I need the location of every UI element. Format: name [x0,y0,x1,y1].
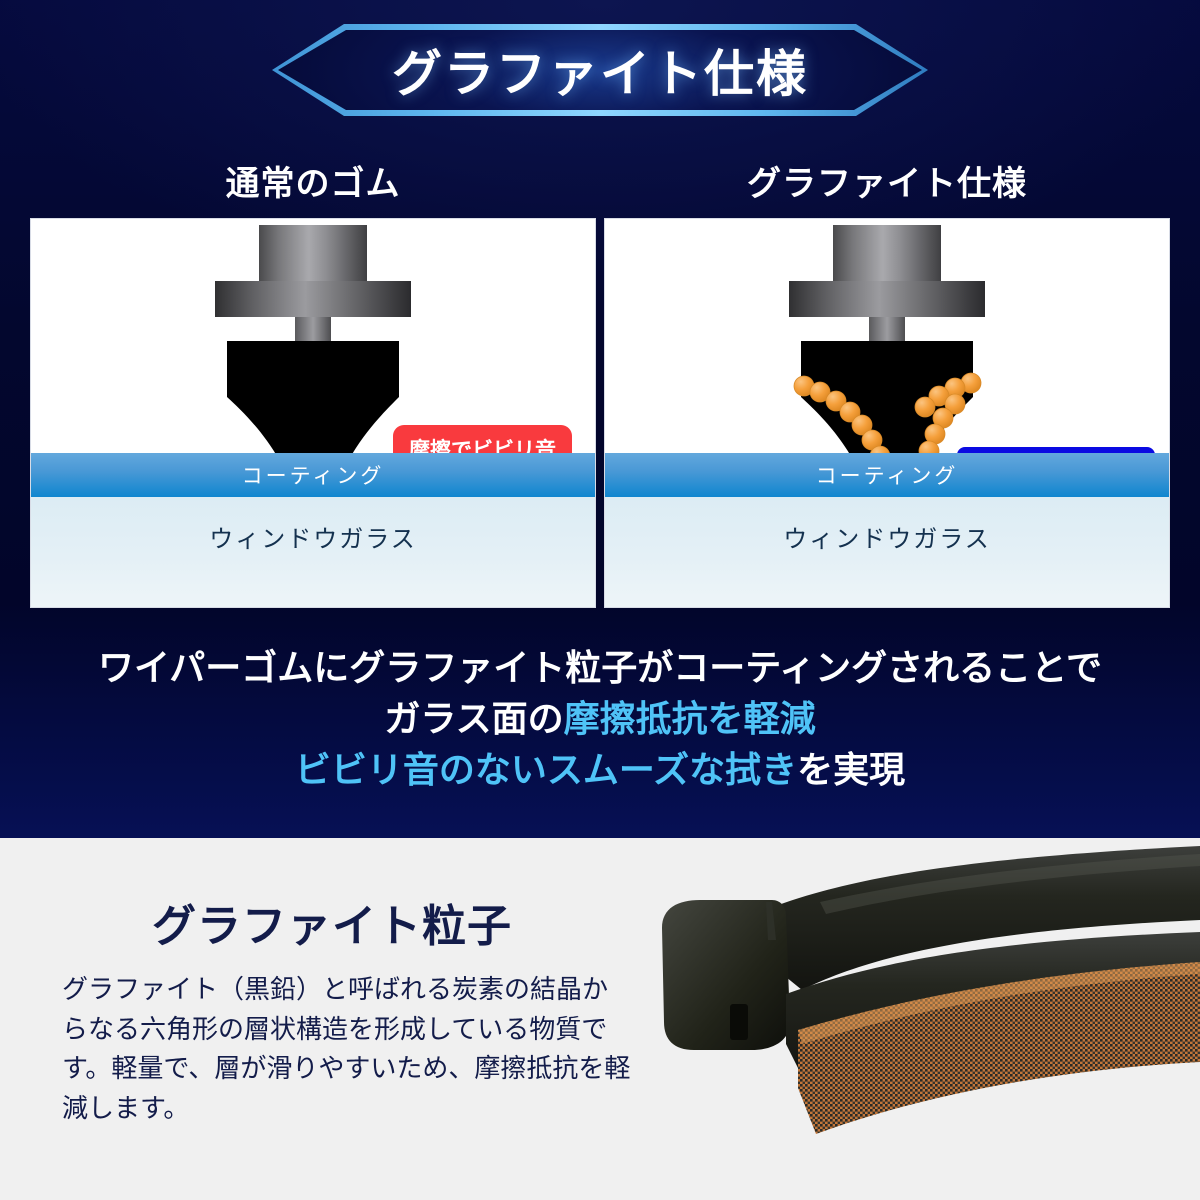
header-banner: グラファイト仕様 [272,24,928,116]
coating-layer-normal: コーティング [31,453,595,497]
coating-layer-graphite: コーティング [605,453,1169,497]
bottom-title: グラファイト粒子 [152,890,632,954]
diagram-normal-rubber: 摩擦抵抗が大きい 摩擦でビビリ音 コーティング ウィンドウガラス [30,218,596,608]
glass-label-normal: ウィンドウガラス [209,519,417,554]
glass-layer-normal: ウィンドウガラス [31,497,595,607]
wiper-metal-neck [295,317,331,341]
coating-label-graphite: コーティング [816,460,959,490]
bottom-section: グラファイト粒子 グラファイト（黒鉛）と呼ばれる炭素の結晶からなる六角形の層状構… [0,838,1200,1200]
lead-description: ワイパーゴムにグラファイト粒子がコーティングされることで ガラス面の摩擦抵抗を軽… [0,642,1200,795]
comparison-panels: 通常のゴム [0,150,1200,620]
diagram-graphite: スムーズな動き 摩擦抵抗が少ない グラファイト粒子 コーティング ウィンドウガラ… [604,218,1170,608]
wiper-metal-top [259,225,367,281]
glass-label-graphite: ウィンドウガラス [783,519,991,554]
lead-line-3-plain: を実現 [797,749,905,790]
top-section: グラファイト仕様 通常のゴム [0,0,1200,838]
wiper-assembly-normal [208,225,418,385]
graphite-explainer: グラファイト粒子 グラファイト（黒鉛）と呼ばれる炭素の結晶からなる六角形の層状構… [62,890,632,1128]
infographic-page: グラファイト仕様 通常のゴム [0,0,1200,1200]
lead-line-3: ビビリ音のないスムーズな拭きを実現 [0,744,1200,795]
wiper-metal-flange [215,281,411,317]
lead-line-3-highlight-a: ビビリ音のない [295,749,547,790]
lead-line-2-plain: ガラス面の [384,698,563,739]
wiper-blade-photo [620,844,1200,1144]
panel-normal-rubber: 通常のゴム [26,150,600,608]
page-title: グラファイト仕様 [392,34,808,106]
panel-graphite: グラファイト仕様 [600,150,1174,608]
lead-line-2: ガラス面の摩擦抵抗を軽減 [0,693,1200,744]
panel-title-graphite: グラファイト仕様 [600,150,1174,210]
bottom-body-text: グラファイト（黒鉛）と呼ばれる炭素の結晶からなる六角形の層状構造を形成している物… [62,970,632,1128]
panel-title-normal: 通常のゴム [26,150,600,210]
glass-layer-graphite: ウィンドウガラス [605,497,1169,607]
lead-line-2-highlight: 摩擦抵抗を軽減 [564,698,816,739]
banner-inner: グラファイト仕様 [278,30,922,110]
lead-line-1: ワイパーゴムにグラファイト粒子がコーティングされることで [0,642,1200,693]
coating-label-normal: コーティング [242,460,385,490]
lead-line-3-highlight-b: スムーズな拭き [547,749,797,790]
